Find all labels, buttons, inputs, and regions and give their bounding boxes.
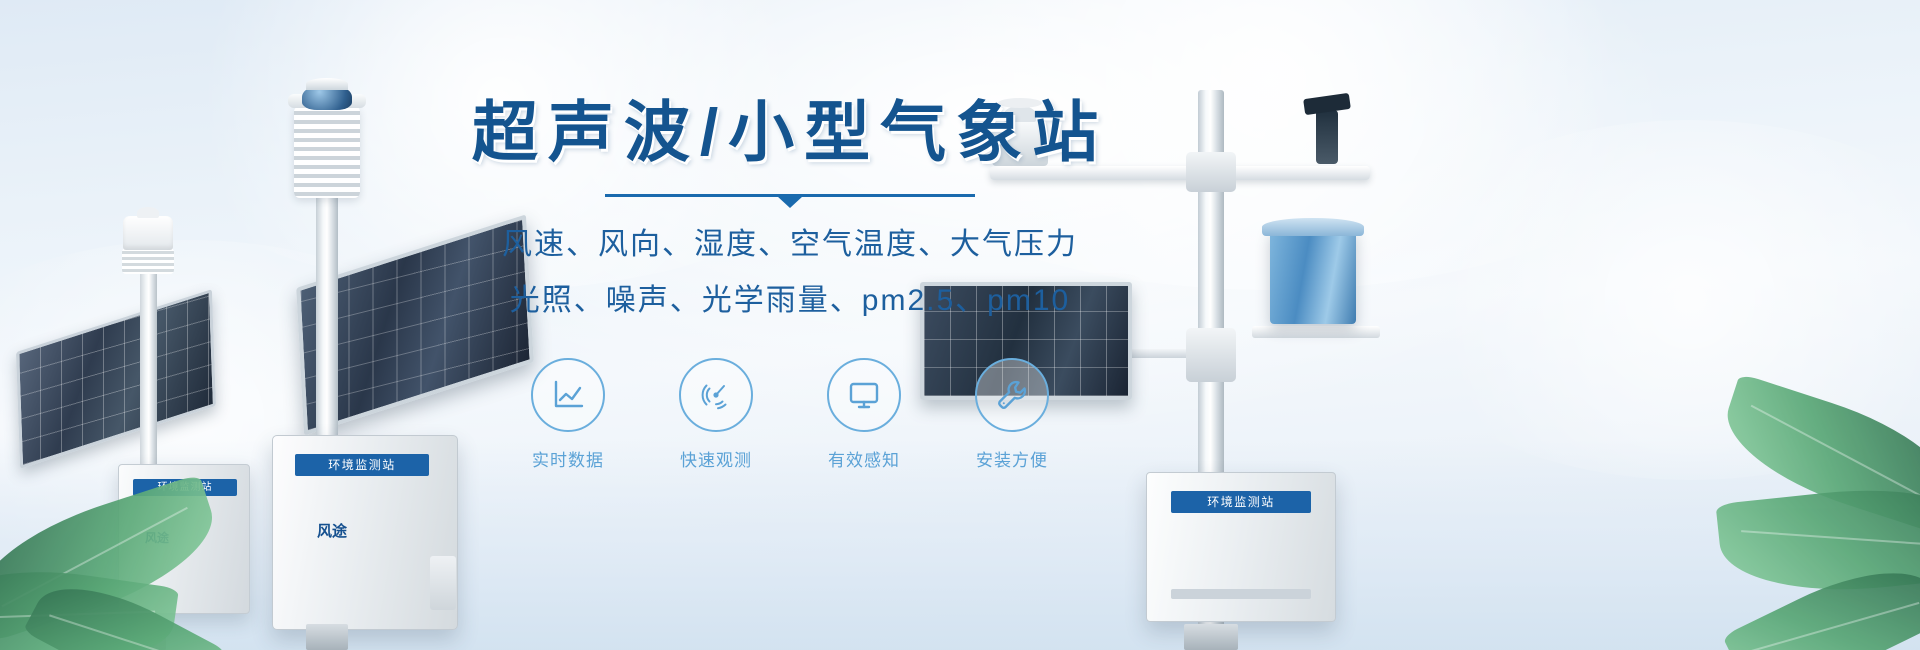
cabinet-label-mid: 环境监测站: [295, 454, 429, 476]
feature-label: 实时数据: [523, 446, 613, 471]
base-plate-right: [1184, 624, 1238, 650]
banner-title: 超声波/小型气象站: [440, 96, 1140, 170]
banner-subtitle-line-2: 光照、噪声、光学雨量、pm2.5、pm10: [440, 275, 1140, 328]
mast-collar-lower: [1186, 328, 1236, 382]
feature-item-easy-install[interactable]: 安装方便: [967, 358, 1057, 471]
feature-label: 有效感知: [819, 446, 909, 471]
optical-rain-gauge: [1270, 228, 1356, 324]
brand-logo-mid: 风途: [317, 520, 347, 541]
feature-label: 快速观测: [671, 446, 761, 471]
cabinet-vent-mid: [430, 556, 456, 610]
cabinet-label-right: 环境监测站: [1171, 491, 1311, 513]
solar-panel-left: [16, 289, 216, 469]
banner-content: 超声波/小型气象站 风速、风向、湿度、空气温度、大气压力 光照、噪声、光学雨量、…: [440, 96, 1140, 471]
feature-item-fast-observation[interactable]: 快速观测: [671, 358, 761, 471]
dome-cap-mid: [306, 78, 348, 90]
feature-list: 实时数据 快速观测: [440, 358, 1140, 471]
mast-collar-upper: [1186, 152, 1236, 192]
feature-item-effective-sensing[interactable]: 有效感知: [819, 358, 909, 471]
sensor-shelf-right: [1252, 326, 1380, 338]
base-plate-mid: [306, 624, 348, 650]
product-banner: 环境监测站 风途 环境监测站 风途 环境监测站: [0, 0, 1920, 650]
wind-vane-sensor: [1316, 110, 1338, 164]
radiation-shield-mid: [294, 106, 360, 198]
control-cabinet-right: 环境监测站: [1146, 472, 1336, 622]
monitor-icon: [827, 358, 901, 432]
feature-label: 安装方便: [967, 446, 1057, 471]
line-chart-icon: [531, 358, 605, 432]
feature-item-realtime-data[interactable]: 实时数据: [523, 358, 613, 471]
radiation-shield-left: [122, 248, 174, 274]
cabinet-slot-right: [1171, 589, 1311, 599]
banner-subtitle-line-1: 风速、风向、湿度、空气温度、大气压力: [440, 219, 1140, 272]
temp-humidity-sensor-left: [123, 216, 173, 250]
title-divider: [605, 194, 975, 197]
radar-icon: [679, 358, 753, 432]
wrench-icon: [975, 358, 1049, 432]
